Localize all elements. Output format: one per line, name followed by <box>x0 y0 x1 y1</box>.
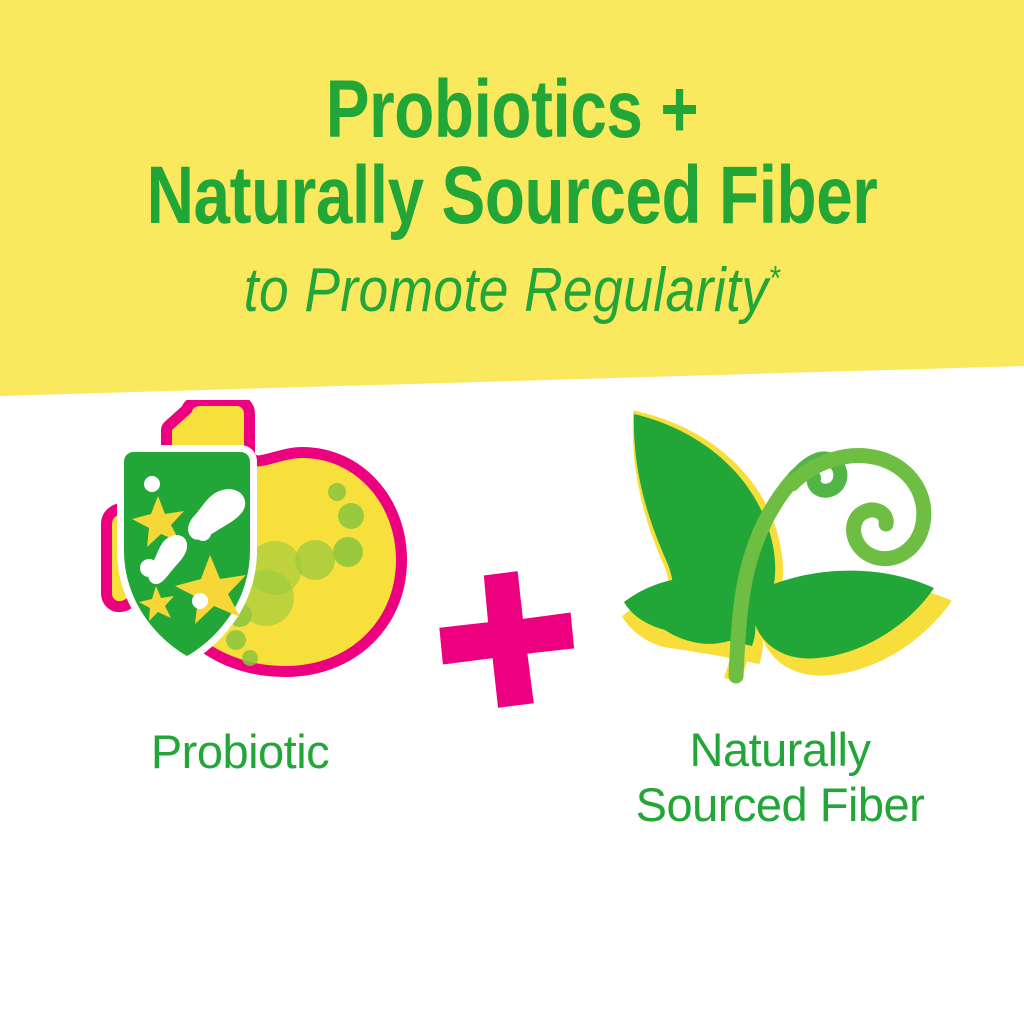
leaf-sprout-fiber-icon <box>600 400 960 700</box>
stomach-shield-probiotic-icon <box>60 400 420 700</box>
plus-separator <box>432 560 582 710</box>
yellow-banner <box>0 0 1024 400</box>
feature-icon-row: Probiotic <box>0 400 1024 1024</box>
feature-label-probiotic: Probiotic <box>60 724 420 779</box>
promo-graphic-canvas: Probiotics + Naturally Sourced Fiber to … <box>0 0 1024 1024</box>
feature-fiber: Naturally Sourced Fiber <box>600 400 960 833</box>
feature-label-fiber: Naturally Sourced Fiber <box>600 722 960 833</box>
plus-icon <box>432 560 582 710</box>
stem-curl-right <box>792 456 924 559</box>
feature-probiotic: Probiotic <box>60 400 420 779</box>
